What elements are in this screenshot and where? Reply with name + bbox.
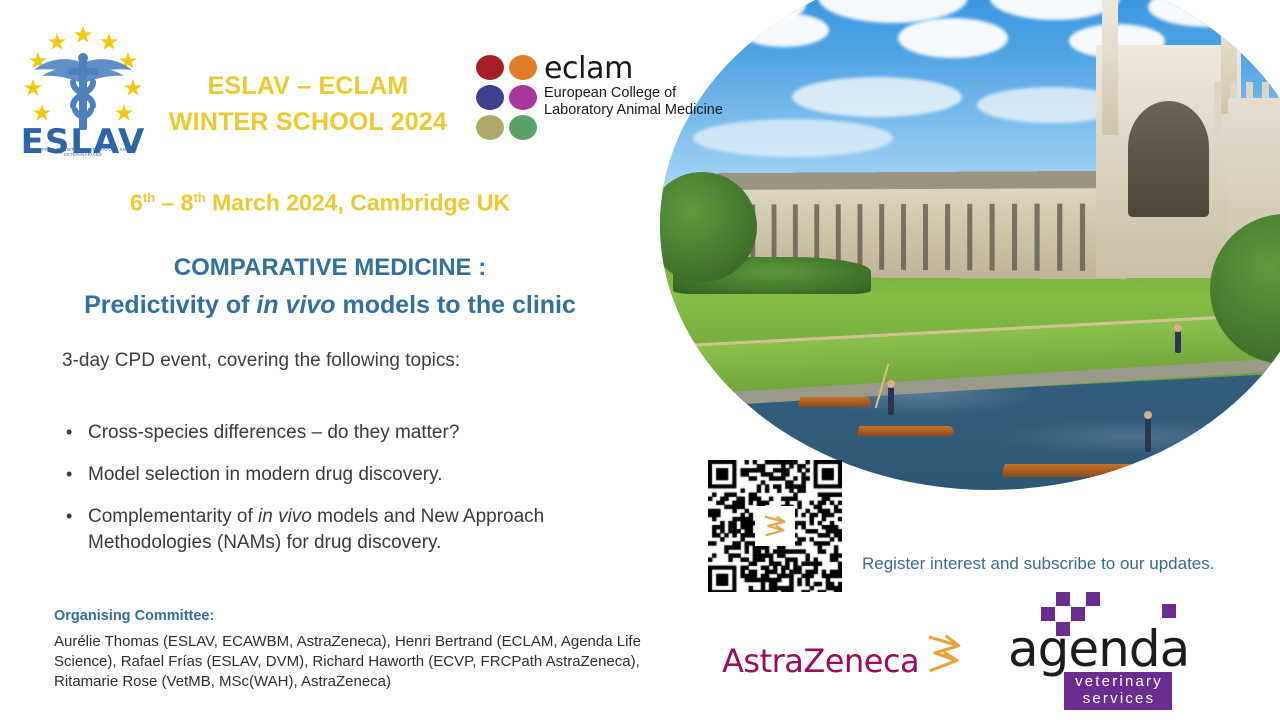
date-day-start: 6 [130, 190, 143, 216]
eclam-dot-1 [476, 55, 504, 80]
agenda-tagline-line1: veterinary [1072, 673, 1166, 690]
walker-person [1175, 331, 1181, 353]
list-item: Model selection in modern drug discovery… [62, 462, 652, 488]
date-sup-2: th [193, 190, 205, 205]
eclam-dot-5 [476, 115, 504, 140]
astrazeneca-logo: AstraZeneca [722, 644, 967, 683]
poster-slide: ESLAV EUROPEAN SOCIETY OF LABORATORY ANI… [0, 0, 1280, 720]
qr-code[interactable] [708, 460, 842, 592]
punter-person [888, 387, 894, 415]
eclam-dot-6 [509, 115, 537, 140]
date-separator: – 8 [155, 190, 193, 216]
bullet-3-emphasis: in vivo [258, 506, 312, 527]
committee-heading: Organising Committee: [54, 608, 214, 624]
date-sup-1: th [143, 190, 155, 205]
agenda-tagline-line2: services [1072, 690, 1166, 707]
eclam-subtitle-line2: Laboratory Animal Medicine [544, 102, 723, 119]
astrazeneca-wordmark: AstraZeneca [722, 644, 919, 678]
theme-line2: Predictivity of in vivo models to the cl… [20, 286, 640, 324]
eclam-dot-2 [509, 55, 537, 80]
punt-boat [857, 426, 955, 436]
event-title-line1: ESLAV – ECLAM [148, 68, 468, 104]
eclam-dot-4 [509, 85, 537, 110]
theme-line2-part-a: Predictivity of [84, 291, 256, 319]
eclam-dot-3 [476, 85, 504, 110]
event-date: 6th – 8th March 2024, Cambridge UK [40, 183, 600, 218]
topics-list: Cross-species differences – do they matt… [62, 420, 652, 572]
list-item: Complementarity of in vivo models and Ne… [62, 504, 652, 556]
bullet-2-text: Model selection in modern drug discovery… [88, 464, 443, 485]
agenda-checker-squares-icon [1040, 592, 1184, 632]
bullet-3-text-a: Complementarity of [88, 506, 258, 527]
agenda-logo: agenda veterinary services [1008, 592, 1184, 710]
punt-boat [1002, 464, 1155, 477]
event-title: ESLAV – ECLAM WINTER SCHOOL 2024 [148, 68, 468, 140]
eclam-logo: eclam European College of Laboratory Ani… [476, 55, 736, 145]
date-month-location: March 2024, Cambridge UK [206, 190, 510, 216]
qr-caption: Register interest and subscribe to our u… [862, 554, 1214, 574]
astrazeneca-swirl-icon [921, 628, 967, 683]
committee-members: Aurélie Thomas (ESLAV, ECAWBM, AstraZene… [54, 632, 679, 692]
eclam-dots-icon [476, 55, 539, 142]
eslav-logo: ESLAV EUROPEAN SOCIETY OF LABORATORY ANI… [12, 16, 154, 156]
eclam-subtitle-line1: European College of [544, 85, 723, 102]
theme-heading: COMPARATIVE MEDICINE : Predictivity of i… [20, 250, 640, 324]
eslav-tagline: EUROPEAN SOCIETY OF LABORATORY ANIMAL VE… [14, 147, 152, 157]
agenda-wordmark: agenda [1008, 626, 1184, 672]
punt-boat [797, 397, 871, 407]
list-item: Cross-species differences – do they matt… [62, 420, 652, 446]
punter-person [1145, 418, 1151, 452]
lead-text: 3-day CPD event, covering the following … [62, 350, 460, 372]
cambridge-photo [660, 0, 1280, 490]
eclam-wordmark: eclam [544, 53, 723, 85]
event-title-line2: WINTER SCHOOL 2024 [148, 104, 468, 140]
qr-center-astrazeneca-icon [755, 506, 795, 546]
bullet-1-text: Cross-species differences – do they matt… [88, 422, 459, 443]
theme-line2-emphasis: in vivo [256, 291, 335, 319]
agenda-tagline: veterinary services [1064, 672, 1172, 710]
theme-line2-part-b: models to the clinic [336, 291, 576, 319]
theme-line1: COMPARATIVE MEDICINE : [20, 250, 640, 286]
eslav-caduceus-icon: ESLAV [12, 16, 154, 156]
